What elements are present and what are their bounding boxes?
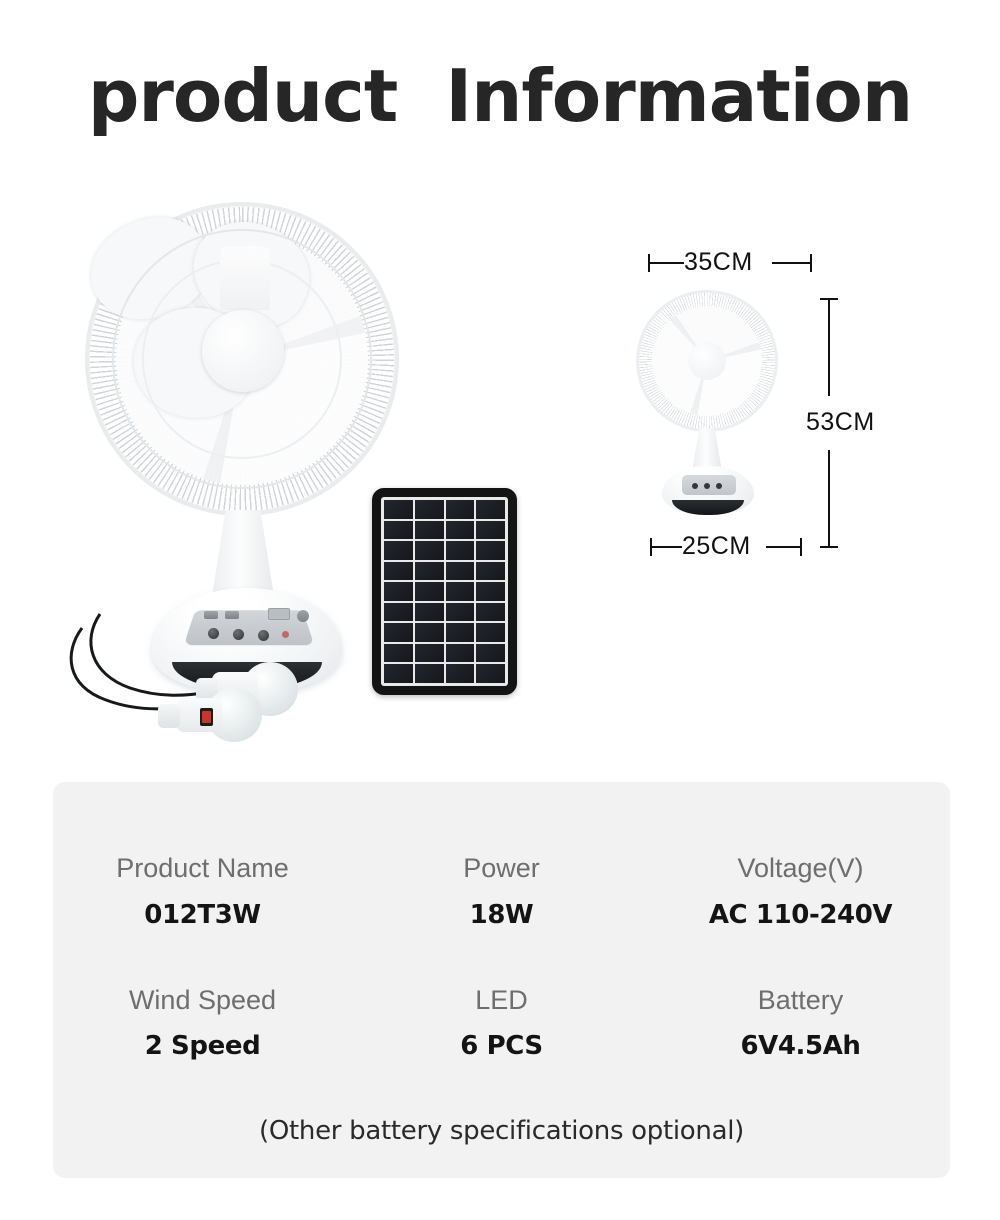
spec-value: 18W (352, 900, 651, 930)
specifications-grid: Product Name 012T3W Power 18W Voltage(V)… (53, 854, 950, 1061)
solar-cell-grid (381, 497, 508, 686)
spec-cell-battery: Battery 6V4.5Ah (651, 986, 950, 1062)
spec-cell-wind-speed: Wind Speed 2 Speed (53, 986, 352, 1062)
spec-cell-power: Power 18W (352, 854, 651, 930)
spec-value: 2 Speed (53, 1031, 352, 1061)
specifications-panel: Product Name 012T3W Power 18W Voltage(V)… (53, 782, 950, 1178)
fan-base-foot (672, 500, 744, 515)
spec-label: Power (352, 854, 651, 884)
spec-label: Wind Speed (53, 986, 352, 1016)
usb-port-icon (297, 610, 309, 622)
spec-label: Product Name (53, 854, 352, 884)
spec-value: AC 110-240V (651, 900, 950, 930)
product-hero-image: 35CM 53CM 25CM (0, 160, 1000, 770)
fan-hub (202, 310, 284, 392)
spec-cell-led: LED 6 PCS (352, 986, 651, 1062)
fan-hub-cap (220, 246, 270, 310)
fan-hub (688, 342, 726, 380)
product-information-page: product Information (0, 0, 1000, 1220)
bulb-power-switch (200, 708, 213, 726)
spec-value: 6 PCS (352, 1031, 651, 1061)
dimension-base-width-label: 25CM (682, 532, 751, 561)
fan-neck (212, 510, 274, 596)
spec-label: Battery (651, 986, 950, 1016)
fan-dimension-diagram (632, 290, 782, 550)
spec-cell-voltage: Voltage(V) AC 110-240V (651, 854, 950, 930)
solar-panel-image (372, 488, 517, 695)
spec-label: Voltage(V) (651, 854, 950, 884)
dimension-height-label: 53CM (806, 408, 875, 437)
dimension-width-label: 35CM (684, 248, 753, 277)
spec-cell-product-name: Product Name 012T3W (53, 854, 352, 930)
specifications-footnote: (Other battery specifications optional) (53, 1116, 950, 1146)
page-title: product Information (0, 54, 1000, 138)
spec-label: LED (352, 986, 651, 1016)
spec-value: 6V4.5Ah (651, 1031, 950, 1061)
led-bulb (158, 684, 270, 756)
spec-value: 012T3W (53, 900, 352, 930)
